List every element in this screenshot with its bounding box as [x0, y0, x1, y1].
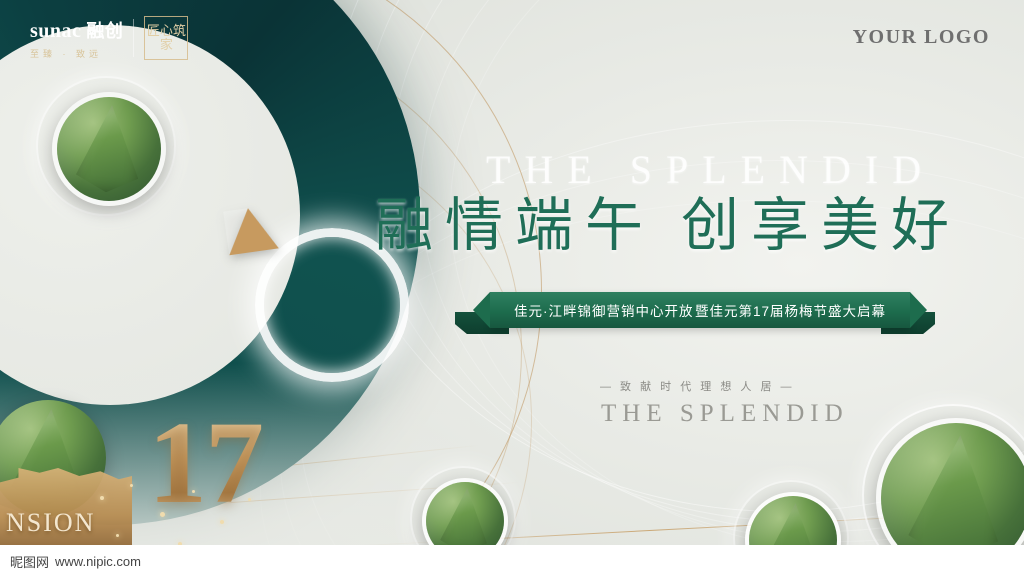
brand-logo: sunac 融创 至臻 · 致远 匠心筑家	[30, 16, 188, 60]
brand-logo-cn: 融创	[86, 17, 123, 43]
poster-canvas: sunac 融创 至臻 · 致远 匠心筑家 YOUR LOGO THE SPLE…	[0, 0, 1024, 575]
mansion-text: NSION	[6, 508, 95, 538]
main-headline: 融情端午创享美好	[375, 178, 961, 262]
site-watermark-url: www.nipic.com	[55, 554, 141, 569]
ribbon-banner: 佳元·江畔锦御营销中心开放 暨佳元第17届杨梅节盛大启幕	[455, 282, 935, 354]
ribbon-text-left: 佳元·江畔锦御营销中心开放	[514, 300, 694, 320]
anniversary-number: 17	[148, 404, 262, 522]
ribbon-text-right: 暨佳元第17届杨梅节盛大启幕	[695, 300, 886, 320]
footer-bar	[0, 545, 1024, 575]
gold-triangle-icon	[223, 205, 279, 256]
logo-divider	[133, 19, 134, 57]
site-watermark-cn: 昵图网	[10, 552, 49, 571]
headline-right: 创享美好	[681, 193, 961, 258]
brand-logo-name: sunac 融创	[30, 17, 123, 43]
brand-logo-en: sunac	[30, 20, 81, 43]
brand-seal-icon: 匠心筑家	[144, 16, 188, 60]
sub-headline-cn: — 致 献 时 代 理 想 人 居 —	[600, 378, 795, 394]
sub-headline-en: THE SPLENDID	[601, 400, 849, 428]
brand-slogan: 至臻 · 致远	[30, 47, 123, 60]
zongzi-photo-top-left	[52, 92, 166, 206]
site-watermark: 昵图网 www.nipic.com	[10, 552, 141, 571]
your-logo-placeholder: YOUR LOGO	[853, 26, 990, 49]
headline-left: 融情端午	[375, 193, 655, 258]
ribbon-main: 佳元·江畔锦御营销中心开放 暨佳元第17届杨梅节盛大启幕	[490, 292, 910, 328]
